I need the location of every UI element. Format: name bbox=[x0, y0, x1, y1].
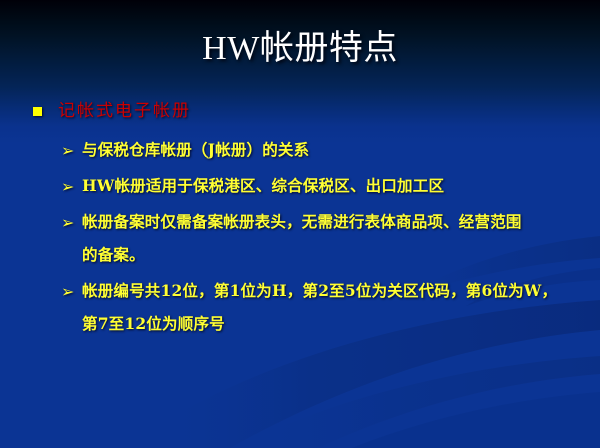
slide-title: HW帐册特点 bbox=[0, 28, 600, 70]
bullet-level2-label-continued: 的备案。 bbox=[82, 243, 600, 267]
bullet-level1-label: 记帐式电子帐册 bbox=[58, 101, 191, 121]
bullet-level1: 记帐式电子帐册 bbox=[0, 98, 600, 126]
presentation-slide: HW帐册特点 记帐式电子帐册 ➢ 与保税仓库帐册（J帐册）的关系 ➢ HW帐册适… bbox=[0, 0, 600, 448]
bullet-level2-item-4: ➢ 帐册编号共12位，第1位为H，第2至5位为关区代码，第6位为W， 第7至12… bbox=[0, 279, 600, 336]
bullet-level2-label: HW帐册适用于保税港区、综合保税区、出口加工区 bbox=[82, 174, 600, 198]
bullet-level2-label-continued: 第7至12位为顺序号 bbox=[82, 312, 600, 336]
slide-body: 记帐式电子帐册 ➢ 与保税仓库帐册（J帐册）的关系 ➢ HW帐册适用于保税港区、… bbox=[0, 98, 600, 336]
arrow-bullet-icon: ➢ bbox=[61, 139, 74, 163]
bullet-level2-label: 帐册编号共12位，第1位为H，第2至5位为关区代码，第6位为W， bbox=[82, 279, 600, 303]
bullet-level2-item-2: ➢ HW帐册适用于保税港区、综合保税区、出口加工区 bbox=[0, 174, 600, 198]
bullet-level2-label: 与保税仓库帐册（J帐册）的关系 bbox=[82, 138, 600, 162]
bullet-level2-item-1: ➢ 与保税仓库帐册（J帐册）的关系 bbox=[0, 138, 600, 162]
bullet-level2-item-3: ➢ 帐册备案时仅需备案帐册表头，无需进行表体商品项、经营范围 的备案。 bbox=[0, 210, 600, 267]
square-bullet-icon bbox=[33, 107, 42, 116]
arrow-bullet-icon: ➢ bbox=[61, 280, 74, 304]
arrow-bullet-icon: ➢ bbox=[61, 211, 74, 235]
arrow-bullet-icon: ➢ bbox=[61, 175, 74, 199]
bullet-level2-label: 帐册备案时仅需备案帐册表头，无需进行表体商品项、经营范围 bbox=[82, 210, 600, 234]
